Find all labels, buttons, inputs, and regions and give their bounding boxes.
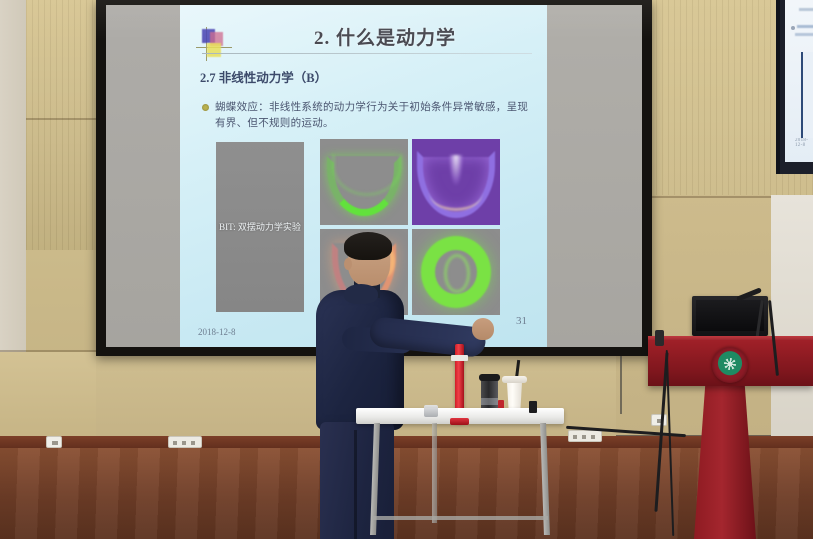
black-thermos[interactable] [481, 378, 498, 412]
secondary-display-bullet-icon [791, 26, 795, 30]
podium-clip [655, 330, 664, 346]
secondary-display: 2018-12-8 [776, 0, 813, 174]
secondary-display-screen: 2018-12-8 [785, 0, 813, 162]
logo-square-yellow [207, 43, 221, 57]
purple-arc-trajectory [417, 151, 494, 218]
screen-cable [620, 356, 622, 414]
slide-logo-icon [196, 27, 232, 61]
rod-base [450, 418, 469, 425]
bullet-dot-icon [202, 104, 209, 111]
presenter-hair [344, 232, 392, 260]
lecture-hall-photo: 2. 什么是动力学 2.7 非线性动力学（B） 蝴蝶效应：非线性系统的动力学行为… [0, 0, 813, 539]
slide-bullet-text: 蝴蝶效应：非线性系统的动力学行为关于初始条件异常敏感，呈现有界、但不规则的运动。 [215, 100, 532, 133]
panel-seam [26, 118, 96, 120]
metallic-small-object[interactable] [424, 405, 438, 417]
secondary-display-line [795, 33, 813, 36]
slide-left-image: BIT: 双摆动力学实验 [216, 142, 304, 312]
attractor-panel-green-arc [320, 139, 408, 225]
slide-date: 2018-12-8 [198, 327, 236, 337]
table-crossbar [372, 516, 548, 520]
wall-outlet-center[interactable] [168, 436, 202, 448]
slide-section-heading: 2.7 非线性动力学（B） [200, 67, 327, 86]
coffee-cup-lid [502, 376, 527, 383]
wall-outlet-podium[interactable] [651, 414, 667, 426]
thermos-lid [479, 374, 500, 381]
presenter-ear [344, 258, 352, 270]
right-white-wall [771, 195, 813, 445]
screen-blank-right [547, 5, 642, 347]
secondary-display-date: 2018-12-8 [795, 138, 813, 148]
secondary-display-line [799, 8, 813, 11]
wall-panel-upper-left [26, 0, 96, 250]
title-divider [202, 53, 532, 54]
black-small-object[interactable] [529, 401, 537, 413]
screen-blank-left [106, 5, 180, 347]
secondary-display-line [797, 25, 813, 28]
green-arc-trajectory [327, 156, 401, 216]
slide-bullet: 蝴蝶效应：非线性系统的动力学行为关于初始条件异常敏感，呈现有界、但不规则的运动。 [202, 100, 532, 133]
table-leg [432, 423, 437, 523]
presenter-leg-split [354, 430, 357, 539]
rod-clip [451, 355, 468, 361]
university-emblem-icon [712, 347, 748, 383]
slide-left-image-caption: BIT: 双摆动力学实验 [219, 220, 301, 234]
presenter-right-hand [472, 318, 494, 340]
slide-page-number: 31 [516, 315, 527, 327]
attractor-panel-purple [412, 139, 500, 225]
presenter-legs [320, 422, 394, 539]
thermos-band [481, 398, 498, 405]
presenter-collar [344, 284, 378, 304]
wall-outlet-right[interactable] [568, 430, 602, 442]
presenter [296, 232, 476, 539]
wall-outlet-left[interactable] [46, 436, 62, 448]
secondary-display-content-block [801, 52, 813, 138]
slide-title: 2. 什么是动力学 [240, 23, 530, 50]
